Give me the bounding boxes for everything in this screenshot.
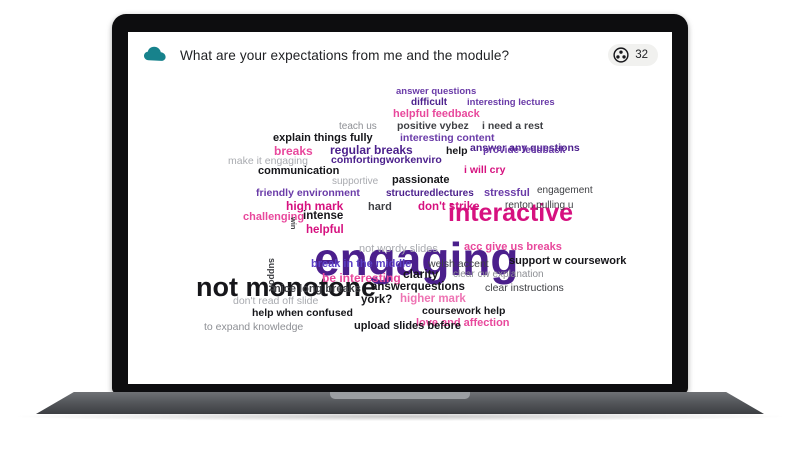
laptop-screen: What are your expectations from me and t… bbox=[128, 32, 672, 384]
cloud-word[interactable]: i will cry bbox=[464, 165, 505, 176]
cloud-word[interactable]: intense bbox=[303, 211, 343, 223]
cloud-word[interactable]: answer questions bbox=[396, 87, 476, 97]
laptop-base-notch bbox=[330, 392, 470, 399]
cloud-word[interactable]: break in the middle bbox=[311, 259, 411, 270]
cloud-word[interactable]: helpful feedback bbox=[393, 109, 480, 120]
cloud-word[interactable]: upload slides before bbox=[354, 321, 461, 332]
cloud-word[interactable]: nice long breaks bbox=[274, 284, 361, 295]
cloud-word[interactable]: communication bbox=[258, 166, 339, 177]
cloud-word[interactable]: don't strike bbox=[418, 202, 480, 214]
cloud-word[interactable]: clear instructions bbox=[485, 283, 564, 294]
cloud-word[interactable]: teach us bbox=[339, 122, 377, 132]
cloud-word[interactable]: friendly environment bbox=[256, 188, 360, 199]
cloud-word[interactable]: positive vybez bbox=[397, 121, 469, 132]
cloud-word[interactable]: help bbox=[446, 146, 468, 157]
word-cloud: engagingnot monotoneinteractiveanswer qu… bbox=[128, 78, 672, 384]
laptop-mockup: What are your expectations from me and t… bbox=[0, 0, 800, 450]
cloud-word[interactable]: win bbox=[290, 217, 298, 230]
cloud-word[interactable]: passionate bbox=[392, 175, 449, 186]
page-title: What are your expectations from me and t… bbox=[180, 48, 608, 63]
cloud-word[interactable]: clarity bbox=[403, 268, 438, 280]
cloud-word[interactable]: higher mark bbox=[400, 294, 466, 306]
cloud-word[interactable]: answerquestions bbox=[371, 282, 465, 294]
cloud-word[interactable]: coursework help bbox=[422, 306, 505, 317]
cloud-word[interactable]: renton pulling u bbox=[505, 201, 573, 211]
cloud-word[interactable]: hard bbox=[368, 202, 392, 213]
cloud-word[interactable]: don't read off slide bbox=[233, 296, 318, 307]
cloud-word[interactable]: help when confused bbox=[252, 308, 353, 319]
cloud-word[interactable]: clear cw explanation bbox=[453, 270, 544, 280]
cloud-word[interactable]: to expand knowledge bbox=[204, 322, 303, 333]
cloud-word[interactable]: supportive bbox=[332, 177, 378, 187]
participants-badge: 32 bbox=[608, 44, 658, 66]
slide-header: What are your expectations from me and t… bbox=[128, 32, 672, 78]
cloud-word[interactable]: provide feedback bbox=[483, 146, 565, 156]
participants-count: 32 bbox=[635, 49, 648, 61]
cloud-word[interactable]: stressful bbox=[484, 188, 530, 199]
cloud-word[interactable]: difficult bbox=[411, 98, 447, 108]
cloud-word[interactable]: helpful bbox=[306, 225, 344, 237]
cloud-word[interactable]: support w coursework bbox=[509, 256, 626, 267]
cloud-word[interactable]: i need a rest bbox=[482, 121, 543, 132]
cloud-word[interactable]: not wordy slides bbox=[359, 244, 438, 255]
cloud-word[interactable]: acc give us breaks bbox=[464, 242, 562, 253]
cloud-word[interactable]: comfortingworkenviro bbox=[331, 155, 442, 166]
cloud-word[interactable]: interesting lectures bbox=[467, 98, 555, 108]
cloud-word[interactable]: engagement bbox=[537, 186, 593, 196]
laptop-shadow bbox=[18, 412, 782, 421]
cloud-word[interactable]: structuredlectures bbox=[386, 189, 474, 199]
cloud-icon bbox=[142, 42, 168, 68]
cloud-word[interactable]: york? bbox=[361, 295, 392, 307]
people-group-icon bbox=[613, 47, 629, 63]
